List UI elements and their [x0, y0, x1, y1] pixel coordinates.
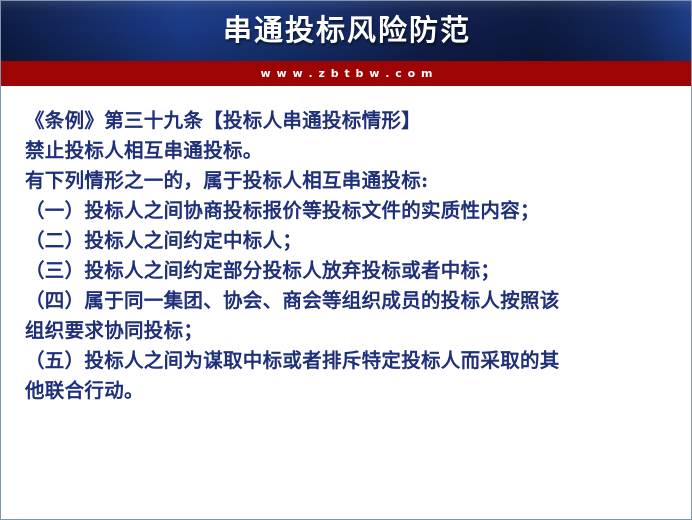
body-line-item-1: （一）投标人之间协商投标报价等投标文件的实质性内容；: [25, 196, 669, 226]
page-title: 串通投标风险防范: [1, 1, 692, 61]
body-line-heading: 《条例》第三十九条【投标人串通投标情形】: [25, 106, 669, 136]
body-line-intro: 有下列情形之一的，属于投标人相互串通投标:: [25, 166, 669, 196]
slide: 串通投标风险防范 w w w . z b t b w . c o m 《条例》第…: [0, 0, 692, 520]
body-line-item-5b: 他联合行动。: [25, 376, 669, 406]
slide-body: 《条例》第三十九条【投标人串通投标情形】 禁止投标人相互串通投标。 有下列情形之…: [1, 86, 692, 520]
body-line-prohibition: 禁止投标人相互串通投标。: [25, 136, 669, 166]
body-line-item-3: （三）投标人之间约定部分投标人放弃投标或者中标；: [25, 256, 669, 286]
body-line-item-2: （二）投标人之间约定中标人；: [25, 226, 669, 256]
body-line-item-5a: （五）投标人之间为谋取中标或者排斥特定投标人而采取的其: [25, 346, 669, 376]
website-url: w w w . z b t b w . c o m: [1, 61, 692, 86]
body-line-item-4b: 组织要求协同投标；: [25, 316, 669, 346]
body-line-item-4a: （四）属于同一集团、协会、商会等组织成员的投标人按照该: [25, 286, 669, 316]
